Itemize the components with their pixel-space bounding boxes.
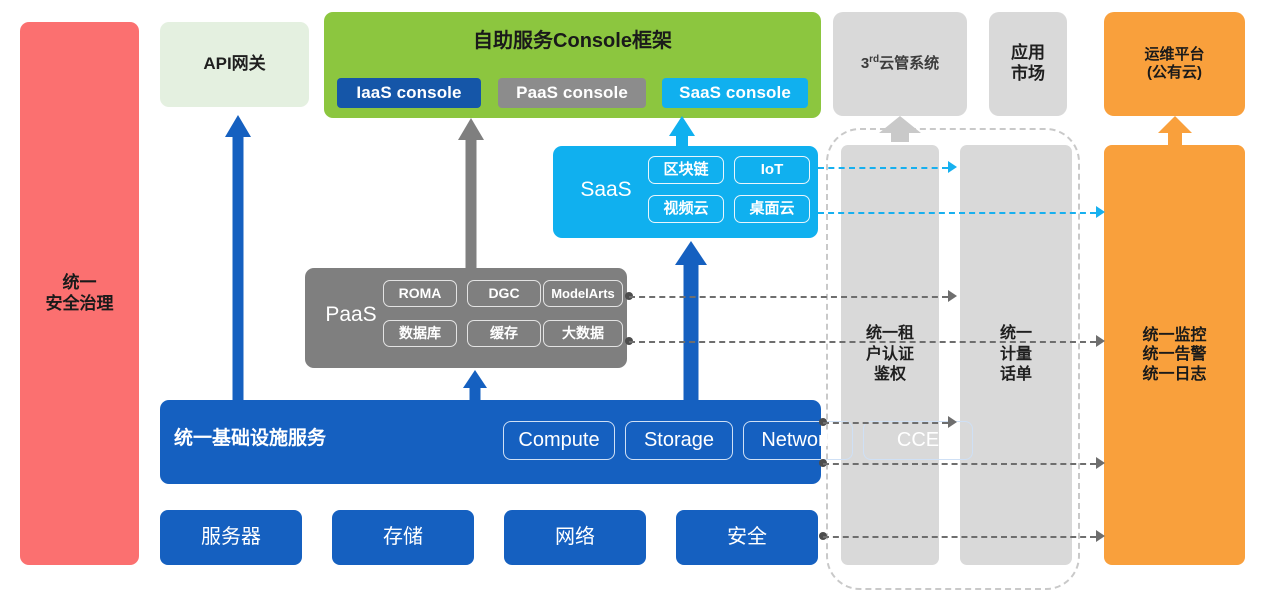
dashed-arrowhead-infra-to-auth <box>948 416 957 428</box>
paas-tile-database[interactable]: 数据库 <box>383 320 457 347</box>
dashed-arrowhead-infra-to-ops <box>1096 457 1105 469</box>
resource-box-network[interactable]: 网络 <box>504 510 646 565</box>
paas-tile-cache[interactable]: 缓存 <box>467 320 541 347</box>
ops-platform-header-box[interactable]: 运维平台(公有云) <box>1104 12 1245 116</box>
resource-box-storage[interactable]: 存储 <box>332 510 474 565</box>
unified-metering-column[interactable]: 统一计量话单 <box>960 145 1072 565</box>
saas-tile-iot[interactable]: IoT <box>734 156 810 184</box>
dashed-saas-to-auth <box>818 167 948 169</box>
arrow-saas-to-saas-console <box>669 116 695 148</box>
resource-box-security[interactable]: 安全 <box>676 510 818 565</box>
paas-layer-box[interactable]: PaaS ROMA DGC ModelArts 数据库 缓存 大数据 <box>305 268 627 368</box>
arrow-infra-to-paas <box>463 370 487 402</box>
dashed-security-to-ops <box>823 536 1096 538</box>
unified-security-governance-label: 统一安全治理 <box>46 273 114 314</box>
resource-label-security: 安全 <box>727 525 767 549</box>
self-service-console-framework[interactable]: 自助服务Console框架 IaaS console PaaS console … <box>324 12 821 118</box>
paas-layer-label: PaaS <box>315 302 387 328</box>
dashed-arrowhead-saas-to-auth <box>948 161 957 173</box>
api-gateway-label: API网关 <box>203 54 265 75</box>
saas-console-chip[interactable]: SaaS console <box>662 78 808 108</box>
arrow-common-to-third-cloud <box>879 116 921 142</box>
infra-tile-storage[interactable]: Storage <box>625 421 733 460</box>
resource-label-server: 服务器 <box>201 525 261 549</box>
ops-platform-body-box[interactable]: 统一监控统一告警统一日志 <box>1104 145 1245 565</box>
resource-label-network: 网络 <box>555 525 595 549</box>
infra-tile-compute[interactable]: Compute <box>503 421 615 460</box>
dashed-paas-to-ops <box>629 341 1096 343</box>
dashed-arrowhead-paas-to-auth <box>948 290 957 302</box>
ordinal-superscript: rd <box>869 54 879 65</box>
unified-infrastructure-bar[interactable]: 统一基础设施服务 Compute Storage Network CCE <box>160 400 821 484</box>
arrow-infra-to-api-gateway <box>225 115 251 403</box>
api-gateway-box[interactable]: API网关 <box>160 22 309 107</box>
paas-console-chip[interactable]: PaaS console <box>498 78 646 108</box>
paas-tile-bigdata[interactable]: 大数据 <box>543 320 623 347</box>
third-party-cloud-management-label: 3rd云管系统 <box>861 54 939 73</box>
saas-tile-video-cloud[interactable]: 视频云 <box>648 195 724 223</box>
arrow-ops-body-to-ops-head <box>1158 116 1192 146</box>
unified-metering-label: 统一计量话单 <box>1000 324 1032 385</box>
saas-tile-desktop-cloud[interactable]: 桌面云 <box>734 195 810 223</box>
infra-tile-network[interactable]: Network <box>743 421 853 460</box>
unified-security-governance-panel[interactable]: 统一安全治理 <box>20 22 139 565</box>
unified-infrastructure-label: 统一基础设施服务 <box>174 427 326 450</box>
unified-tenant-auth-label: 统一租户认证鉴权 <box>866 324 914 385</box>
architecture-diagram: 统一安全治理 API网关 自助服务Console框架 IaaS console … <box>0 0 1265 605</box>
arrow-paas-to-console <box>458 118 484 270</box>
ops-platform-header-label: 运维平台(公有云) <box>1144 46 1204 83</box>
dashed-arrowhead-saas-to-ops <box>1096 206 1105 218</box>
paas-tile-roma[interactable]: ROMA <box>383 280 457 307</box>
unified-tenant-auth-column[interactable]: 统一租户认证鉴权 <box>841 145 939 565</box>
paas-tile-modelarts[interactable]: ModelArts <box>543 280 623 307</box>
dashed-saas-to-ops <box>818 212 1096 214</box>
app-market-label: 应用市场 <box>1011 43 1045 84</box>
iaas-console-chip[interactable]: IaaS console <box>337 78 481 108</box>
dashed-arrowhead-security-to-ops <box>1096 530 1105 542</box>
resource-box-server[interactable]: 服务器 <box>160 510 302 565</box>
dashed-infra-to-ops <box>823 463 1096 465</box>
dashed-infra-to-auth <box>823 422 948 424</box>
third-party-cloud-management-box[interactable]: 3rd云管系统 <box>833 12 967 116</box>
dashed-paas-to-auth <box>629 296 948 298</box>
paas-tile-dgc[interactable]: DGC <box>467 280 541 307</box>
resource-label-storage: 存储 <box>383 525 423 549</box>
saas-tile-blockchain[interactable]: 区块链 <box>648 156 724 184</box>
saas-layer-label: SaaS <box>567 177 645 203</box>
ops-platform-body-label: 统一监控统一告警统一日志 <box>1142 326 1206 385</box>
app-market-box[interactable]: 应用市场 <box>989 12 1067 116</box>
dashed-arrowhead-paas-to-ops <box>1096 335 1105 347</box>
saas-layer-box[interactable]: SaaS 区块链 IoT 视频云 桌面云 <box>553 146 818 238</box>
arrow-infra-to-saas <box>675 241 707 403</box>
console-framework-title: 自助服务Console框架 <box>324 29 821 53</box>
